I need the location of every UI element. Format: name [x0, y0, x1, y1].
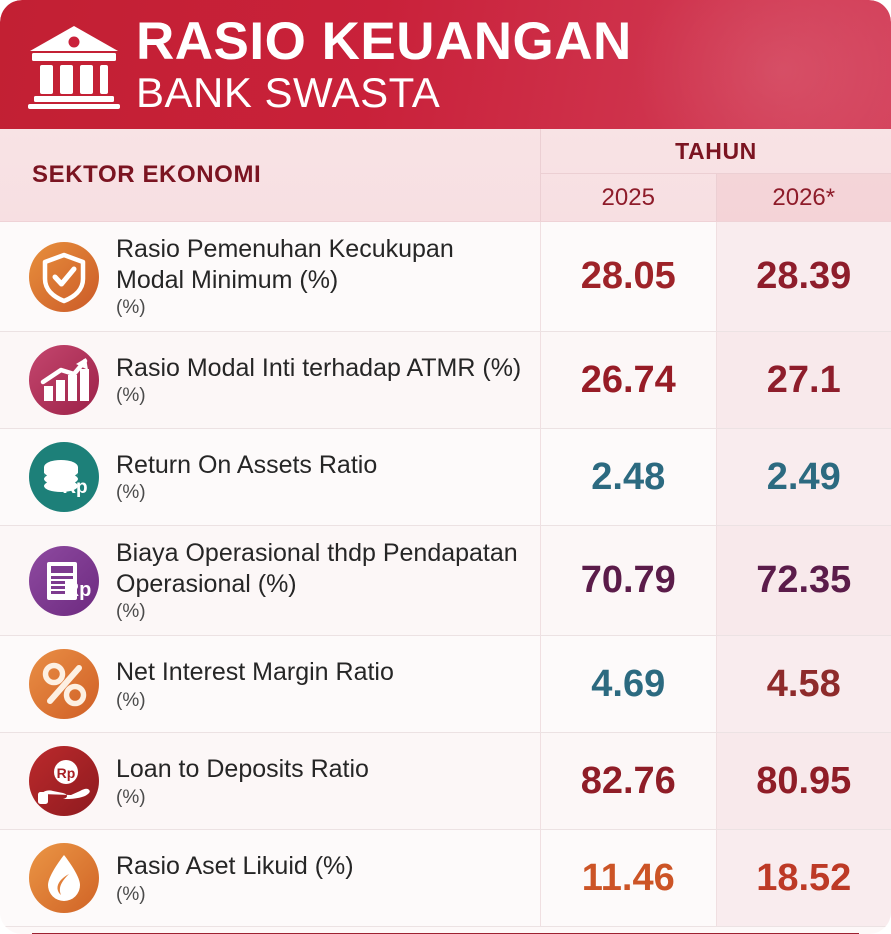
page-title: RASIO KEUANGAN — [136, 15, 632, 68]
row-label-cell: Rp Return On Assets Ratio (%) — [0, 429, 541, 525]
row-unit: (%) — [116, 481, 377, 504]
table-row: Rasio Pemenuhan Kecukupan Modal Minimum … — [0, 222, 891, 332]
row-label-cell: Rp Loan to Deposits Ratio (%) — [0, 733, 541, 829]
row-label: Return On Assets Ratio — [116, 450, 377, 481]
table-row: Net Interest Margin Ratio (%) 4.69 4.58 — [0, 636, 891, 733]
value-2025: 70.79 — [541, 526, 716, 635]
water-drop-icon — [28, 842, 100, 914]
row-unit: (%) — [116, 786, 369, 809]
value-2026: 2.49 — [716, 429, 891, 525]
row-unit: (%) — [116, 689, 394, 712]
value-2025: 2.48 — [541, 429, 716, 525]
row-label: Rasio Aset Likuid (%) — [116, 851, 354, 882]
value-2026: 72.35 — [716, 526, 891, 635]
column-header-years: TAHUN 2025 2026* — [541, 129, 891, 221]
bank-building-icon — [26, 21, 122, 109]
value-2026: 28.39 — [716, 222, 891, 331]
table-row: Rp Loan to Deposits Ratio (%) 82.76 80.9… — [0, 733, 891, 830]
table-row: Rasio Modal Inti terhadap ATMR (%) (%) 2… — [0, 332, 891, 429]
row-label: Loan to Deposits Ratio — [116, 754, 369, 785]
header-titles: RASIO KEUANGAN BANK SWASTA — [136, 15, 632, 114]
row-label-cell: Rasio Pemenuhan Kecukupan Modal Minimum … — [0, 222, 541, 331]
row-label-cell: Rasio Aset Likuid (%) (%) — [0, 830, 541, 926]
column-header-sector: SEKTOR EKONOMI — [0, 129, 541, 221]
table-row: Rasio Aset Likuid (%) (%) 11.46 18.52 — [0, 830, 891, 927]
value-2026: 80.95 — [716, 733, 891, 829]
row-label: Biaya Operasional thdp Pendapatan Operas… — [116, 538, 526, 599]
document-rupiah-icon: Rp — [28, 545, 100, 617]
hand-rupiah-icon: Rp — [28, 745, 100, 817]
svg-text:Rp: Rp — [65, 579, 92, 601]
value-2025: 82.76 — [541, 733, 716, 829]
value-2025: 28.05 — [541, 222, 716, 331]
table-row: Rp Biaya Operasional thdp Pendapatan Ope… — [0, 526, 891, 636]
value-2025: 26.74 — [541, 332, 716, 428]
value-2025: 11.46 — [541, 830, 716, 926]
row-unit: (%) — [116, 883, 354, 906]
table-body: Rasio Pemenuhan Kecukupan Modal Minimum … — [0, 222, 891, 927]
row-label: Net Interest Margin Ratio — [116, 657, 394, 688]
table-row: Rp Return On Assets Ratio (%) 2.48 2.49 — [0, 429, 891, 526]
infographic-card: RASIO KEUANGAN BANK SWASTA SEKTOR EKONOM… — [0, 0, 891, 934]
svg-text:Rp: Rp — [62, 477, 87, 498]
shield-check-icon — [28, 241, 100, 313]
page-subtitle: BANK SWASTA — [136, 72, 632, 114]
value-2026: 18.52 — [716, 830, 891, 926]
row-label: Rasio Modal Inti terhadap ATMR (%) — [116, 353, 521, 384]
column-header-2025: 2025 — [541, 174, 716, 221]
header-banner: RASIO KEUANGAN BANK SWASTA — [0, 0, 891, 129]
row-label-cell: Net Interest Margin Ratio (%) — [0, 636, 541, 732]
row-unit: (%) — [116, 384, 521, 407]
value-2025: 4.69 — [541, 636, 716, 732]
row-label-cell: Rp Biaya Operasional thdp Pendapatan Ope… — [0, 526, 541, 635]
row-label: Rasio Pemenuhan Kecukupan Modal Minimum … — [116, 234, 526, 295]
coin-stack-rupiah-icon: Rp — [28, 441, 100, 513]
column-header-tahun: TAHUN — [541, 129, 891, 174]
value-2026: 4.58 — [716, 636, 891, 732]
row-unit: (%) — [116, 296, 526, 319]
bar-chart-arrow-icon — [28, 344, 100, 416]
svg-text:Rp: Rp — [57, 765, 76, 781]
percent-icon — [28, 648, 100, 720]
row-unit: (%) — [116, 600, 526, 623]
row-label-cell: Rasio Modal Inti terhadap ATMR (%) (%) — [0, 332, 541, 428]
value-2026: 27.1 — [716, 332, 891, 428]
table-header: SEKTOR EKONOMI TAHUN 2025 2026* — [0, 129, 891, 222]
column-header-2026: 2026* — [716, 174, 891, 221]
